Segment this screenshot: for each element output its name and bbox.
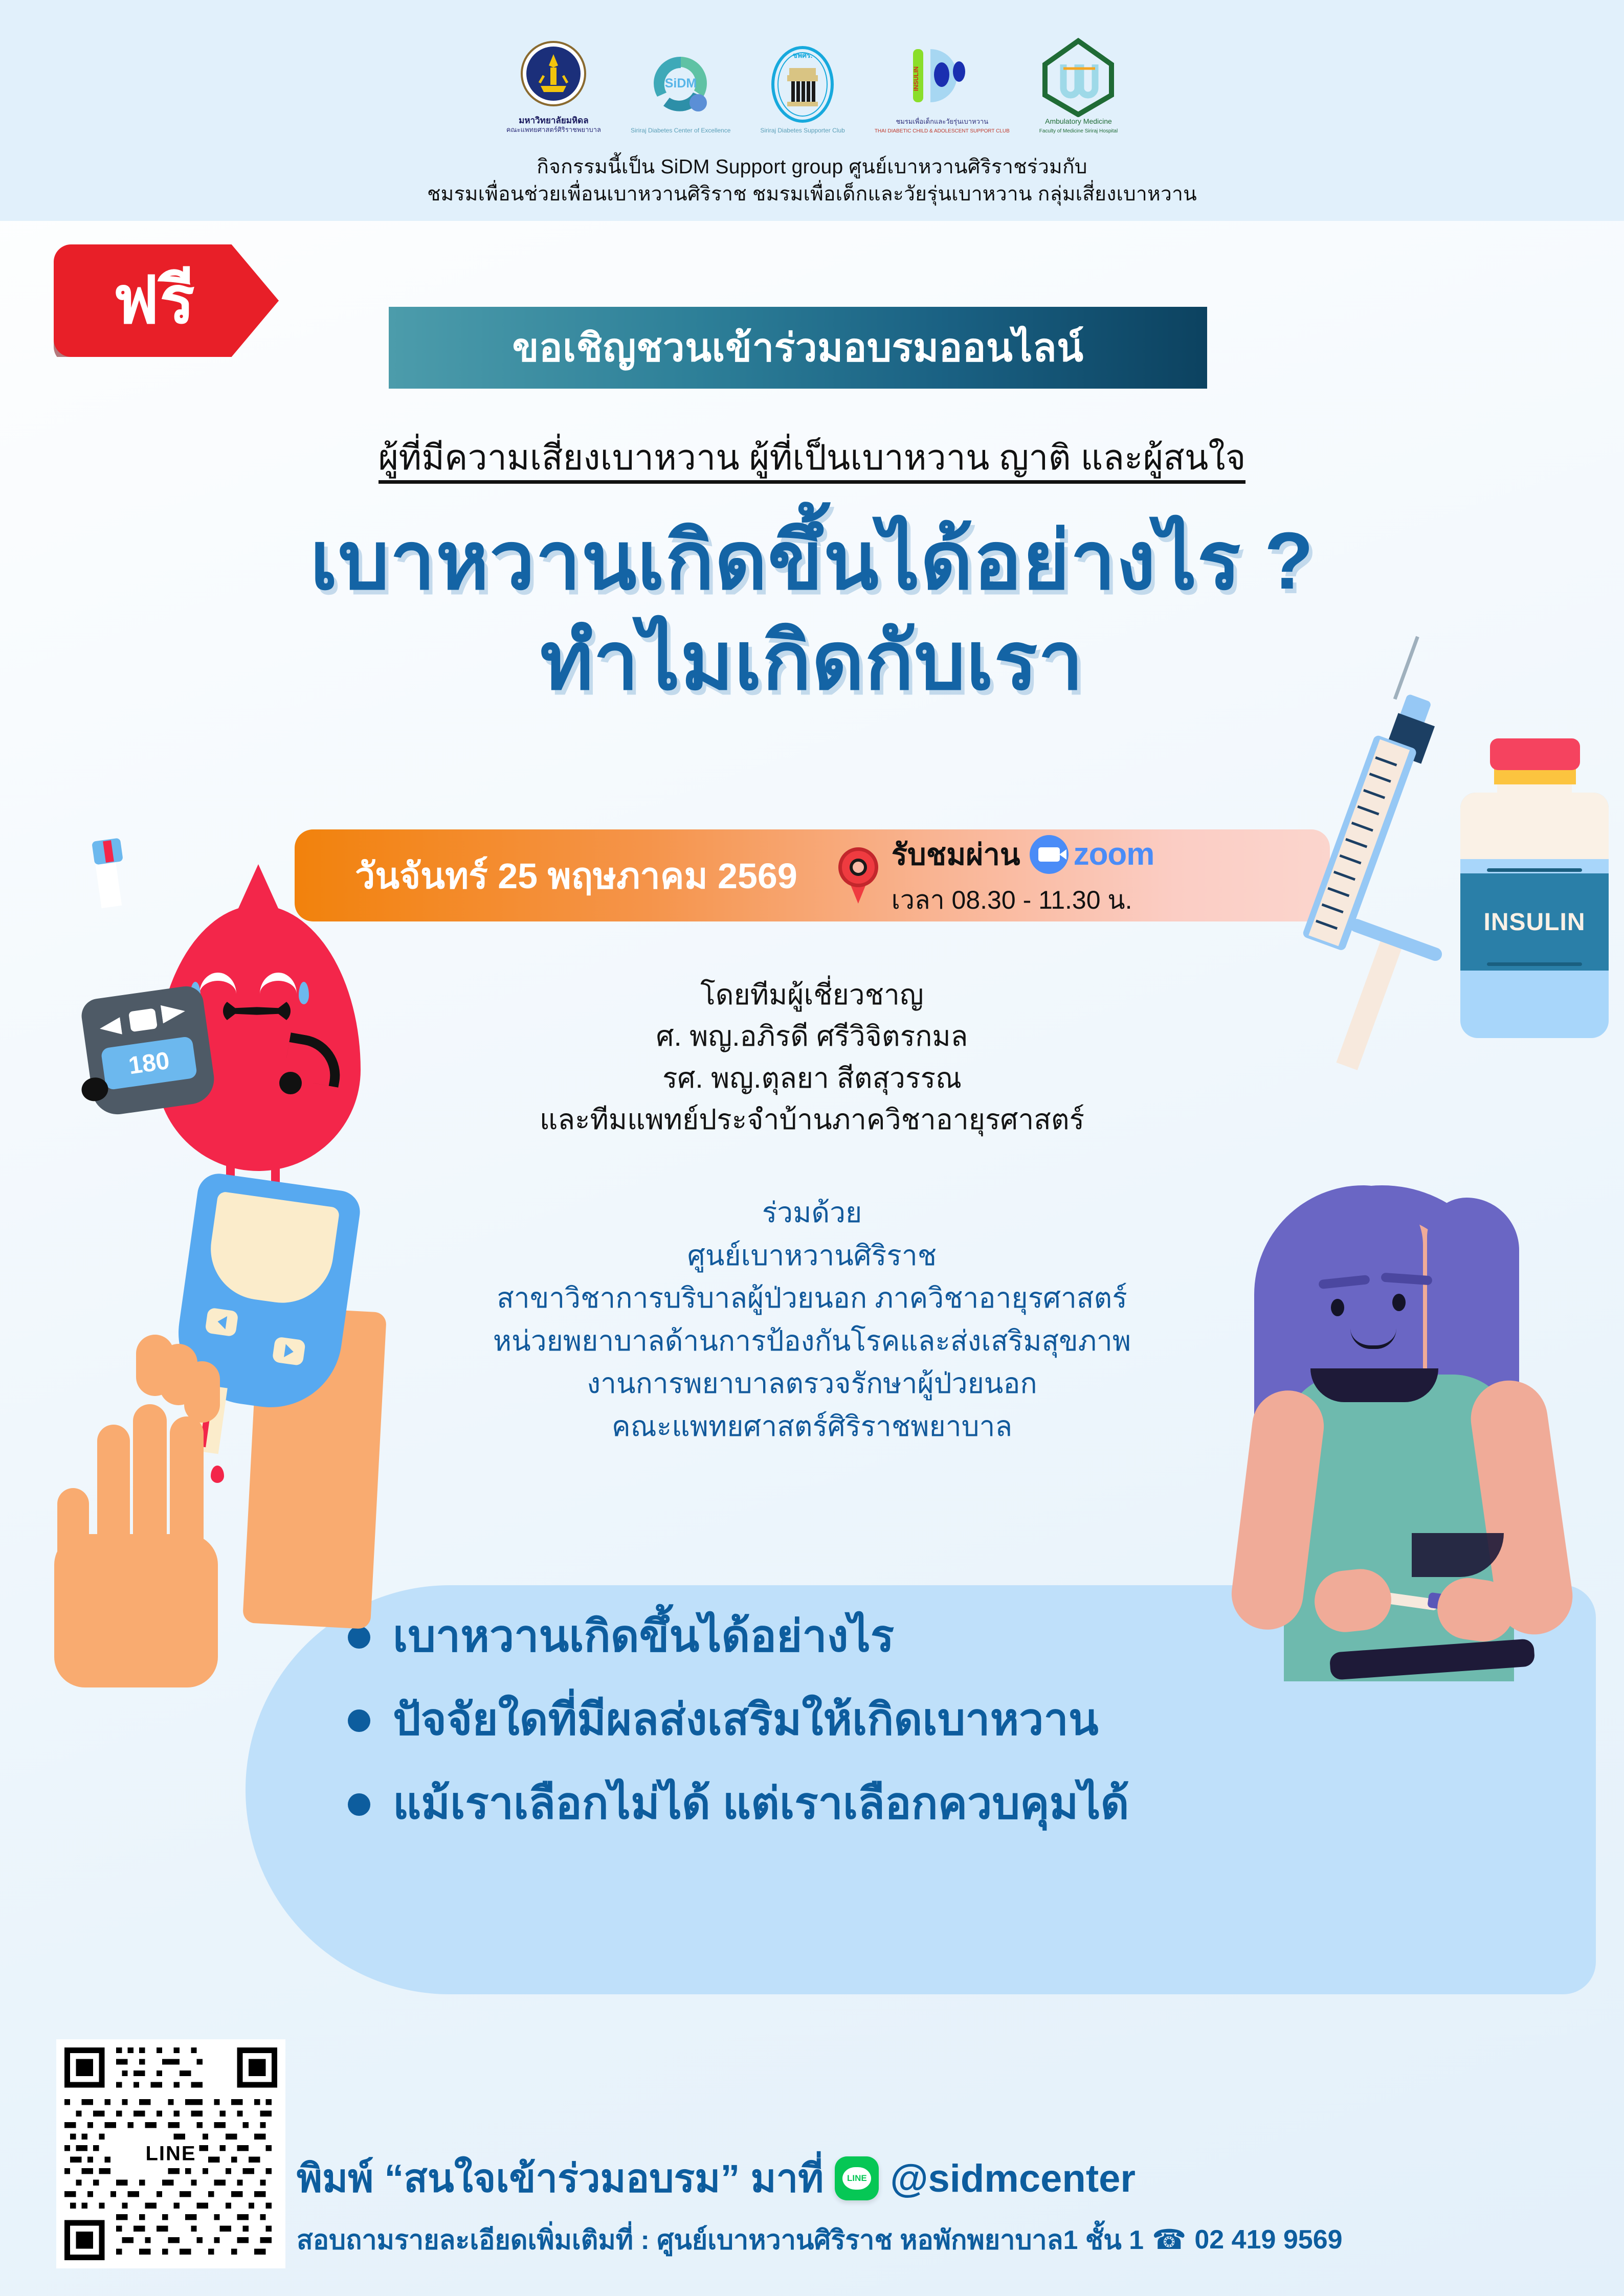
line-icon-label: LINE [847,2173,867,2184]
footer-register-text: พิมพ์ “สนใจเข้าร่วมอบรม” มาที่ [297,2148,824,2209]
sidm-circles-icon: SiDM [645,48,717,124]
insulin-vial-label: INSULIN [1484,908,1586,936]
svg-text:SiDM: SiDM [664,76,697,91]
headline-line-1: เบาหวานเกิดขึ้นได้อย่างไร ? [0,511,1624,612]
thai-diabetic-child-adolescent-support-club-logo: INSULIN ชมรมเพื่อเด็กและวัยรุ่นเบาหวาน T… [875,41,1010,134]
header-description: กิจกรรมนี้เป็น SiDM Support group ศูนย์เ… [0,153,1624,208]
line-app-icon[interactable]: LINE [835,2156,879,2200]
bullet-dot-icon [348,1709,370,1732]
vial-cap-icon [1490,738,1580,770]
poster-canvas: มหาวิทยาลัยมหิดล คณะแพทยศาสตร์ศิริราชพยา… [0,0,1624,2296]
ambulatory-logo-subtitle: Faculty of Medicine Siriraj Hospital [1039,128,1118,134]
platform-block: รับชมผ่าน zoom เวลา 08.30 - 11.30 น. [892,830,1154,920]
header-line-1: กิจกรรมนี้เป็น SiDM Support group ศูนย์เ… [0,153,1624,181]
woman-injecting-insulin-illustration [1197,1185,1624,1697]
header-line-2: ชมรมเพื่อนช่วยเพื่อนเบาหวานศิริราช ชมรมเ… [0,181,1624,208]
date-time-banner: วันจันทร์ 25 พฤษภาคม 2569 รับชมผ่าน zoom… [295,829,1330,921]
topic-label: ปัจจัยใดที่มีผลส่งเสริมให้เกิดเบาหวาน [393,1694,1099,1746]
audience-line: ผู้ที่มีความเสี่ยงเบาหวาน ผู้ที่เป็นเบาห… [0,430,1624,485]
supporter-club-emblem-icon: ชพศร. [767,42,838,124]
mahidol-logo-caption2: คณะแพทยศาสตร์ศิริราชพยาบาล [506,126,601,134]
footer-contact-text: สอบถามรายละเอียดเพิ่มเติมที่ : ศูนย์เบาห… [297,2218,1144,2261]
watch-via-label: รับชมผ่าน [892,830,1020,878]
insulin-vial-illustration: INSULIN [1460,731,1614,1043]
invite-ribbon: ขอเชิญชวนเข้าร่วมอบรมออนไลน์ [389,307,1207,389]
mahidol-seal-icon [520,37,587,114]
glucose-reading-value: 180 [127,1046,171,1080]
partner-logo-row: มหาวิทยาลัยมหิดล คณะแพทยศาสตร์ศิริราชพยา… [0,37,1624,134]
zoom-wordmark: zoom [1074,836,1154,872]
siriraj-diabetes-supporter-club-logo: ชพศร. Siriraj Diabetes Supporter Club [760,42,844,134]
topic-label: แม้เราเลือกไม่ได้ แต่เราเลือกควบคุมได้ [393,1778,1129,1830]
qr-code-image: LINE [64,2047,277,2260]
supporter-club-logo-subtitle: Siriraj Diabetes Supporter Club [760,127,844,134]
child-club-logo-subtitle: THAI DIABETIC CHILD & ADOLESCENT SUPPORT… [875,128,1010,134]
child-club-logo-caption: ชมรมเพื่อเด็กและวัยรุ่นเบาหวาน [896,118,988,126]
svg-text:ชพศร.: ชพศร. [793,51,813,59]
free-badge-label: ฟรี [54,244,279,357]
footer-contact-row: สอบถามรายละเอียดเพิ่มเติมที่ : ศูนย์เบาห… [297,2218,1596,2261]
footer-contact-block: พิมพ์ “สนใจเข้าร่วมอบรม” มาที่ LINE @sid… [297,2148,1596,2261]
dc-monogram-icon: INSULIN [904,41,981,118]
phone-icon: ☎ [1152,2223,1186,2256]
event-date: วันจันทร์ 25 พฤษภาคม 2569 [355,847,797,904]
glucose-meter-icon: 180 [79,984,217,1117]
sidm-logo-subtitle: Siriraj Diabetes Center of Excellence [631,127,730,134]
invite-ribbon-label: ขอเชิญชวนเข้าร่วมอบรมออนไลน์ [512,317,1083,378]
bullet-dot-icon [348,1793,370,1816]
ambulatory-medicine-logo: Ambulatory Medicine Faculty of Medicine … [1039,38,1118,134]
qr-line-brand-label: LINE [142,2142,199,2167]
audience-label: ผู้ที่มีความเสี่ยงเบาหวาน ผู้ที่เป็นเบาห… [379,438,1246,484]
svg-text:INSULIN: INSULIN [913,66,920,91]
mahidol-university-logo: มหาวิทยาลัยมหิดล คณะแพทยศาสตร์ศิริราชพยา… [506,37,601,134]
zoom-camera-icon [1030,835,1069,874]
line-account-id[interactable]: @sidmcenter [890,2156,1136,2201]
topic-label: เบาหวานเกิดขึ้นได้อย่างไร [393,1611,894,1662]
ambulatory-logo-caption: Ambulatory Medicine [1045,117,1112,126]
sidm-logo: SiDM Siriraj Diabetes Center of Excellen… [631,48,730,134]
topic-item: ปัจจัยใดที่มีผลส่งเสริมให้เกิดเบาหวาน [348,1694,1524,1746]
footer-register-row: พิมพ์ “สนใจเข้าร่วมอบรม” มาที่ LINE @sid… [297,2148,1596,2209]
topic-item: แม้เราเลือกไม่ได้ แต่เราเลือกควบคุมได้ [348,1778,1524,1830]
ambulatory-medicine-shield-icon [1040,38,1117,117]
location-pin-icon [838,847,878,904]
contact-phone-number[interactable]: 02 419 9569 [1194,2224,1342,2255]
fingerstick-test-illustration [31,1181,460,1693]
event-time: เวลา 08.30 - 11.30 น. [892,880,1154,920]
free-badge: ฟรี [54,244,279,357]
line-qr-code[interactable]: LINE [56,2039,285,2268]
mahidol-logo-caption: มหาวิทยาลัยมหิดล [519,116,588,126]
zoom-logo: zoom [1030,835,1154,874]
